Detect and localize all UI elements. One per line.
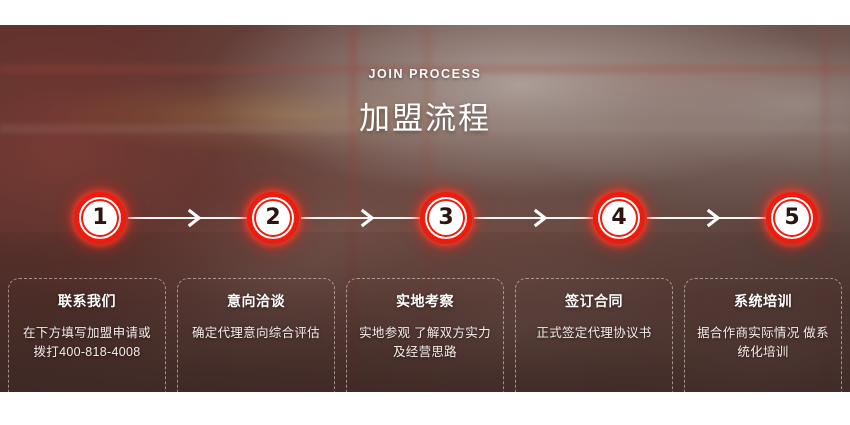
process-card-1[interactable]: 联系我们 在下方填写加盟申请或拨打400-818-4008 <box>8 278 166 392</box>
step-circle-5[interactable]: 5 <box>766 192 818 244</box>
process-card-title: 意向洽谈 <box>186 291 326 311</box>
step-number-5: 5 <box>784 207 799 229</box>
process-card-desc: 正式签定代理协议书 <box>524 324 664 343</box>
join-process-banner: JOIN PROCESS 加盟流程 1 <box>0 25 850 392</box>
process-card-title: 联系我们 <box>17 291 157 311</box>
process-step-rail: 1 2 3 4 5 <box>0 170 850 270</box>
process-card-title: 实地考察 <box>355 291 495 311</box>
step-circle-4[interactable]: 4 <box>593 192 645 244</box>
process-card-desc: 在下方填写加盟申请或拨打400-818-4008 <box>17 324 157 363</box>
step-number-2: 2 <box>265 207 280 229</box>
banner-heading-group: JOIN PROCESS 加盟流程 <box>0 67 850 138</box>
process-card-desc: 据合作商实际情况 做系统化培训 <box>693 324 833 363</box>
process-cards: 联系我们 在下方填写加盟申请或拨打400-818-4008 意向洽谈 确定代理意… <box>8 278 842 392</box>
step-number-3: 3 <box>438 207 453 229</box>
process-card-4[interactable]: 签订合同 正式签定代理协议书 <box>515 278 673 392</box>
step-number-4: 4 <box>611 207 626 229</box>
step-circle-2[interactable]: 2 <box>247 192 299 244</box>
page-title: 加盟流程 <box>0 93 850 138</box>
step-circle-3[interactable]: 3 <box>420 192 472 244</box>
process-card-3[interactable]: 实地考察 实地参观 了解双方实力及经营思路 <box>346 278 504 392</box>
process-card-desc: 实地参观 了解双方实力及经营思路 <box>355 324 495 363</box>
process-card-5[interactable]: 系统培训 据合作商实际情况 做系统化培训 <box>684 278 842 392</box>
process-card-title: 系统培训 <box>693 291 833 311</box>
step-number-1: 1 <box>92 207 107 229</box>
step-circle-1[interactable]: 1 <box>74 192 126 244</box>
banner-eyebrow: JOIN PROCESS <box>0 67 850 81</box>
page-root: JOIN PROCESS 加盟流程 1 <box>0 0 850 425</box>
process-card-2[interactable]: 意向洽谈 确定代理意向综合评估 <box>177 278 335 392</box>
process-card-desc: 确定代理意向综合评估 <box>186 324 326 343</box>
process-card-title: 签订合同 <box>524 291 664 311</box>
